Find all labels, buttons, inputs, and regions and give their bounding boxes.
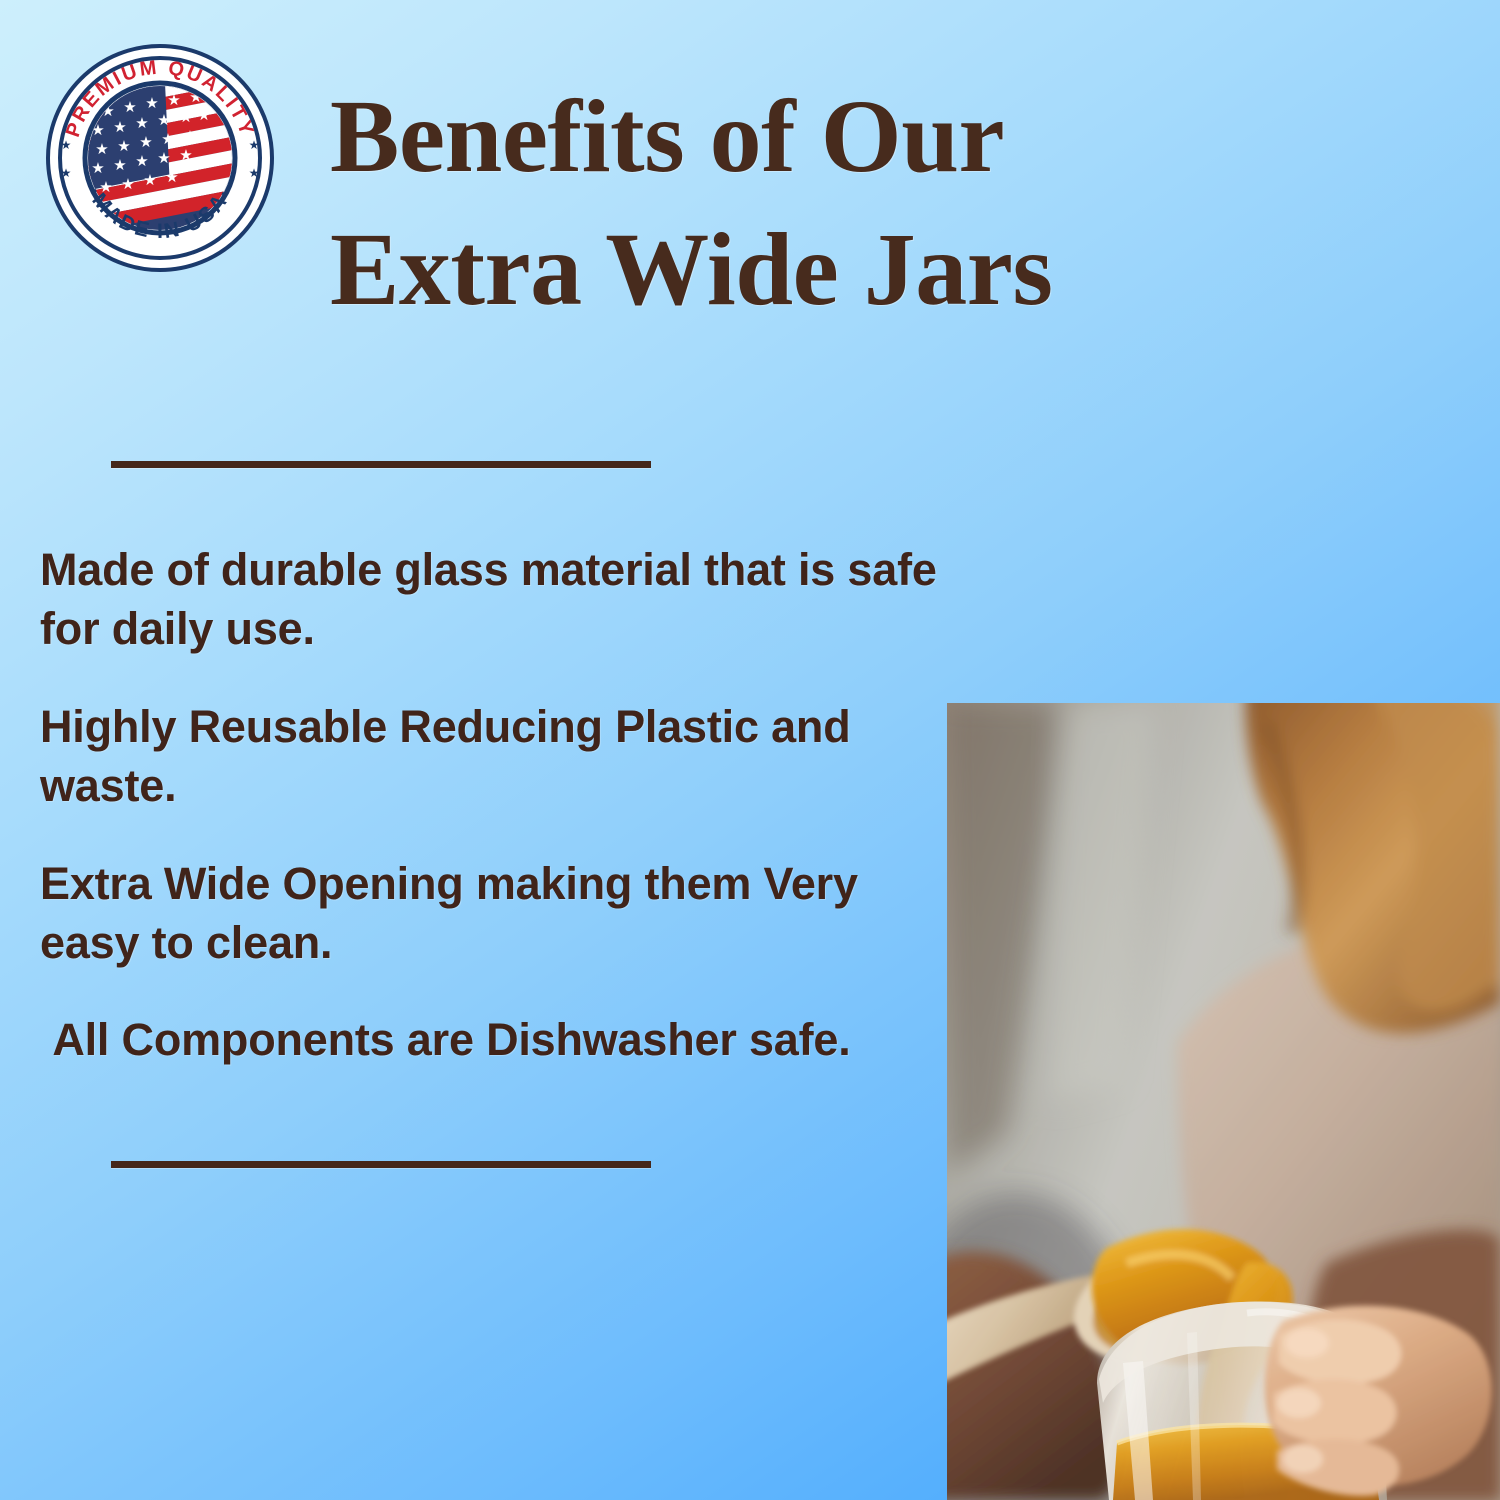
svg-text:★: ★ — [183, 127, 196, 145]
svg-text:★: ★ — [61, 166, 72, 180]
svg-text:★: ★ — [179, 146, 192, 164]
svg-text:★: ★ — [143, 171, 156, 189]
svg-text:★: ★ — [161, 130, 174, 148]
svg-text:★: ★ — [249, 166, 260, 180]
svg-text:★: ★ — [95, 140, 108, 158]
svg-text:★: ★ — [91, 159, 104, 177]
svg-text:★: ★ — [145, 94, 158, 112]
svg-text:★: ★ — [113, 156, 126, 174]
svg-text:★: ★ — [113, 118, 126, 136]
svg-text:★: ★ — [61, 138, 72, 152]
svg-text:★: ★ — [157, 149, 170, 167]
divider-above-benefits — [111, 461, 651, 468]
svg-text:★: ★ — [167, 91, 180, 109]
made-in-usa-premium-quality-seal: ★★★ ★★ ★★★ ★★★ ★★★ ★★ ★★★ ★★ ★★★ ★ PREMI… — [46, 44, 274, 272]
benefit-item-reusable: Highly Reusable Reducing Plastic and was… — [40, 697, 945, 816]
benefits-list: Made of durable glass material that is s… — [40, 540, 945, 1070]
page-title-line-1: Benefits of Our — [330, 70, 1450, 203]
benefit-item-dishwasher-safe: All Components are Dishwasher safe. — [40, 1010, 945, 1069]
svg-text:★: ★ — [139, 133, 152, 151]
svg-text:★: ★ — [249, 138, 260, 152]
page-title-line-2: Extra Wide Jars — [330, 203, 1450, 336]
promo-graphic: ★★★ ★★ ★★★ ★★★ ★★★ ★★ ★★★ ★★ ★★★ ★ PREMI… — [0, 0, 1500, 1500]
svg-text:★: ★ — [197, 106, 210, 124]
svg-text:★: ★ — [121, 175, 134, 193]
product-lifestyle-photo — [947, 703, 1500, 1500]
page-title: Benefits of Our Extra Wide Jars — [330, 70, 1450, 336]
svg-text:★: ★ — [135, 114, 148, 132]
svg-text:★: ★ — [165, 168, 178, 186]
svg-text:★: ★ — [179, 108, 192, 126]
divider-below-benefits — [111, 1161, 651, 1168]
benefit-item-durable-glass: Made of durable glass material that is s… — [40, 540, 945, 659]
svg-text:★: ★ — [135, 152, 148, 170]
benefit-item-wide-opening: Extra Wide Opening making them Very easy… — [40, 854, 945, 973]
svg-text:★: ★ — [157, 111, 170, 129]
svg-text:★: ★ — [117, 137, 130, 155]
